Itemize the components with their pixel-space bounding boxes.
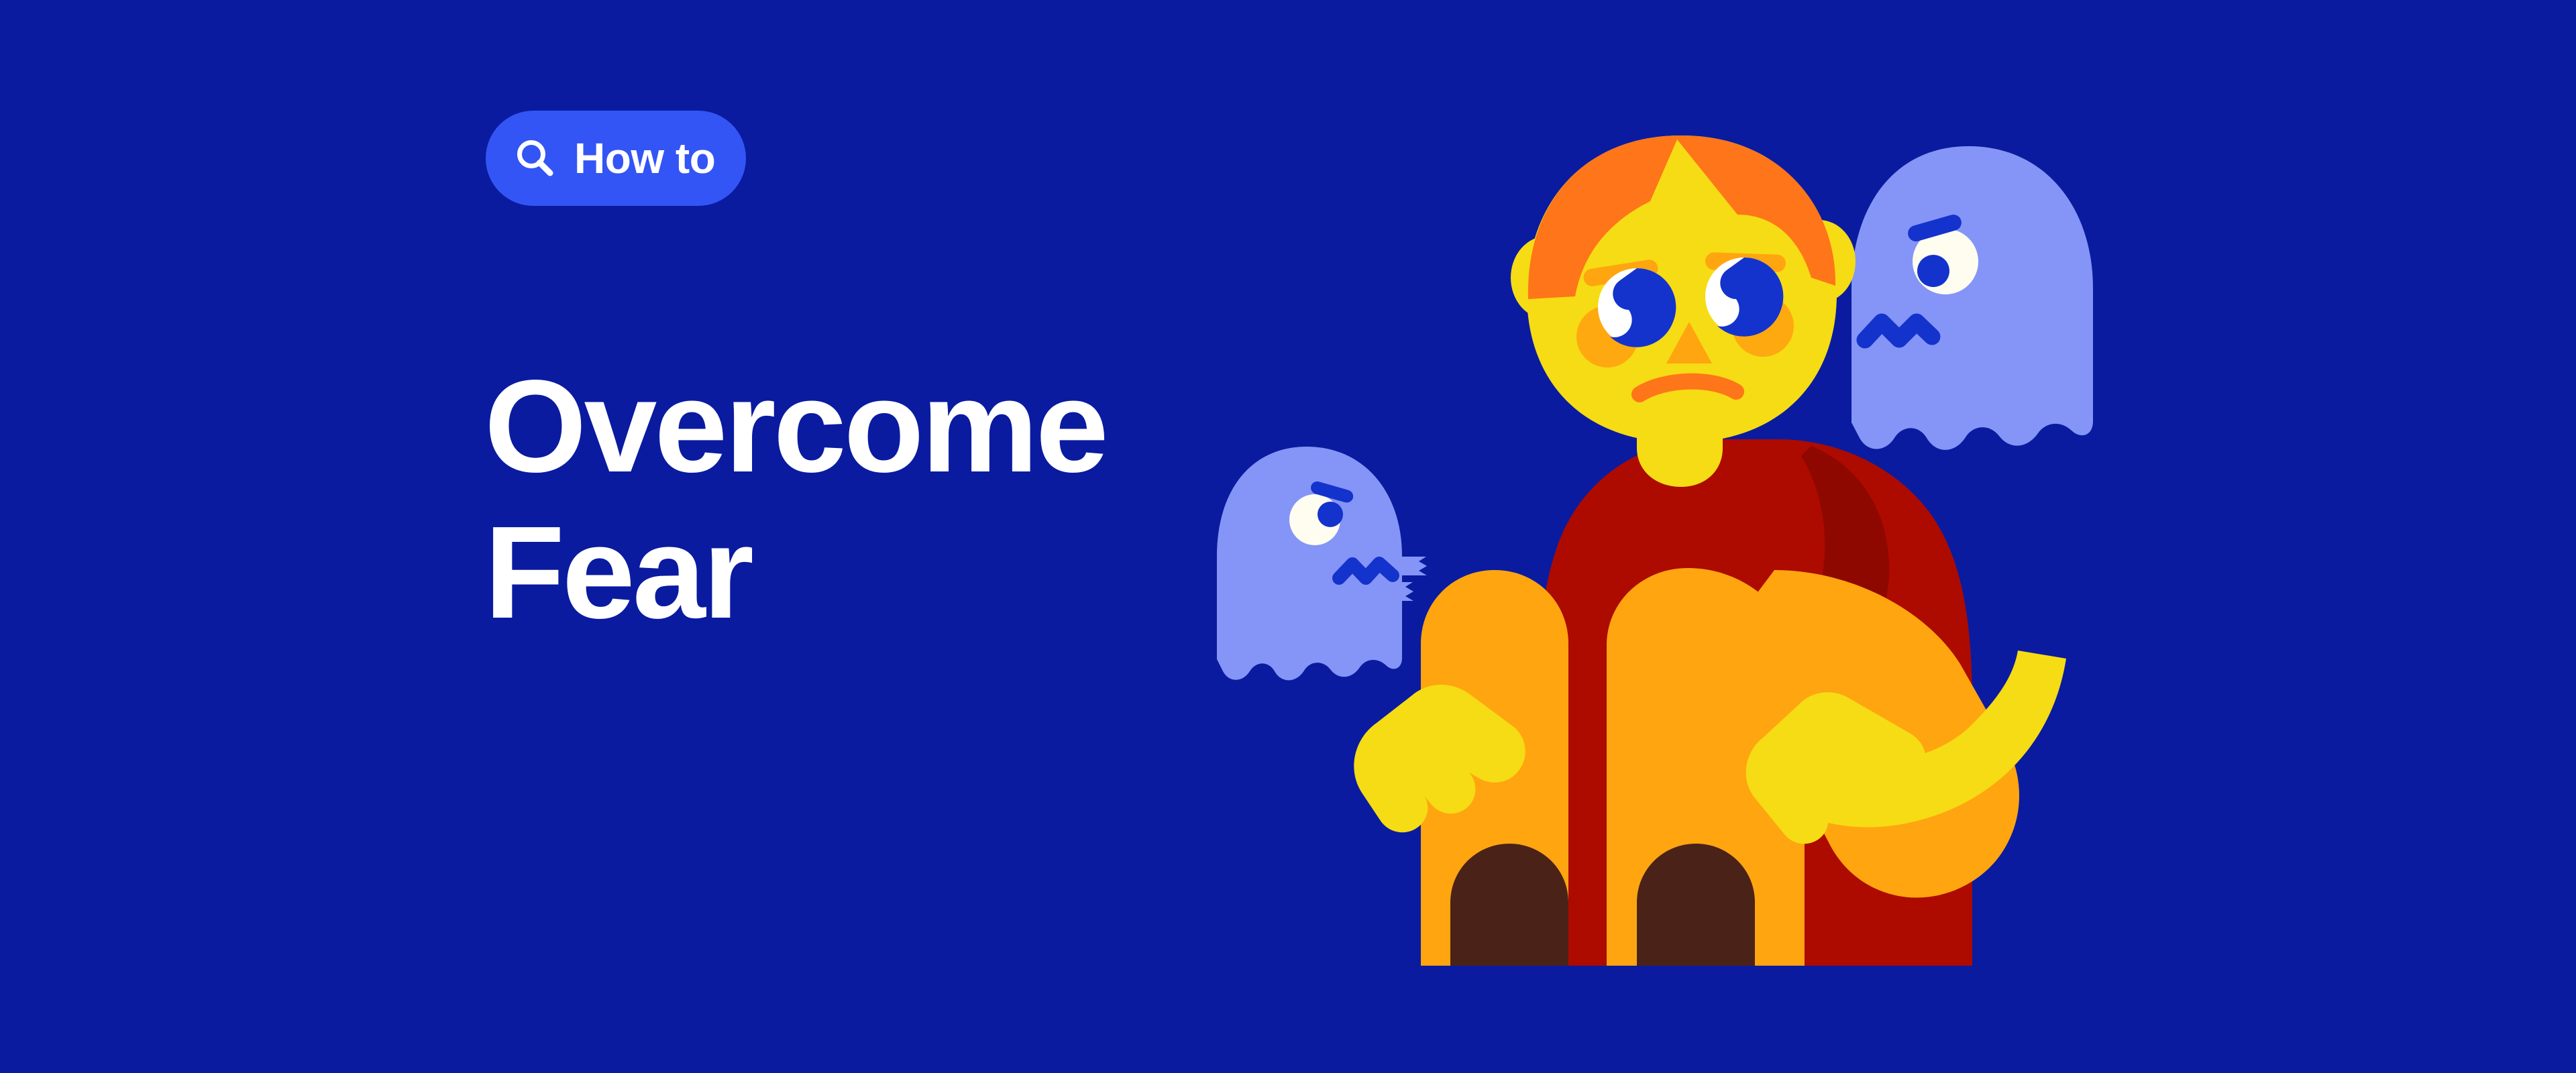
ghost-small-pupil [1318,502,1343,527]
how-to-badge[interactable]: How to [486,111,746,206]
ghost-small-icon [1217,447,1427,680]
hero-banner: How to Overcome Fear [0,0,2576,1073]
ghost-large-pupil [1917,255,1949,287]
person-shoe-right [1637,844,1755,966]
how-to-badge-label: How to [574,137,715,180]
person-shoe-left [1450,844,1568,966]
hero-illustration [1207,101,2160,993]
page-title: Overcome Fear [484,353,1106,646]
search-icon [515,138,555,178]
